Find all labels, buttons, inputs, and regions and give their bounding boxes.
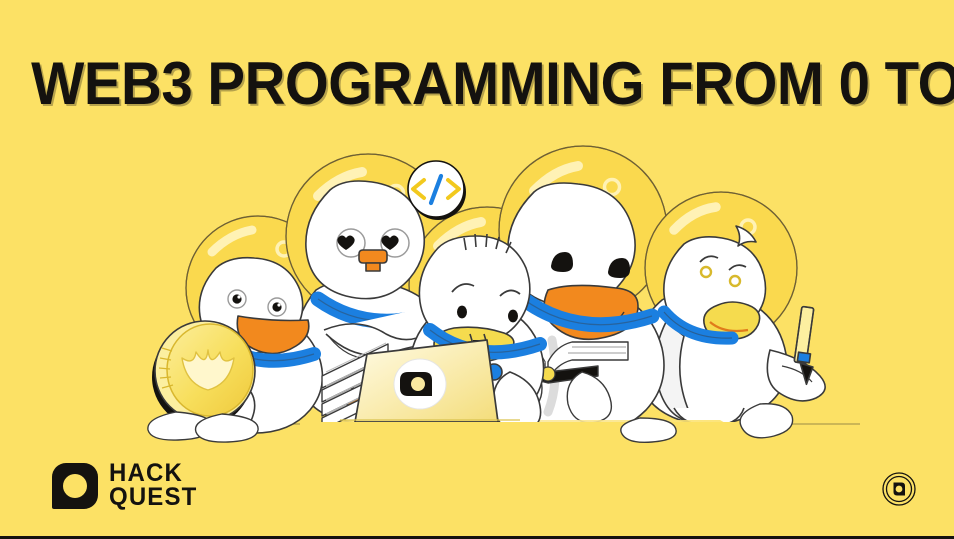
hackquest-logo[interactable]: HACK QUEST bbox=[52, 462, 201, 510]
hackquest-mark-icon bbox=[52, 463, 98, 509]
hackquest-badge-icon bbox=[882, 472, 916, 506]
logo-line-2: QUEST bbox=[109, 486, 197, 510]
promo-banner: WEB3 PROGRAMMING FROM 0 TO 1 HACK QUEST bbox=[0, 0, 954, 539]
logo-wordmark: HACK QUEST bbox=[109, 462, 201, 510]
